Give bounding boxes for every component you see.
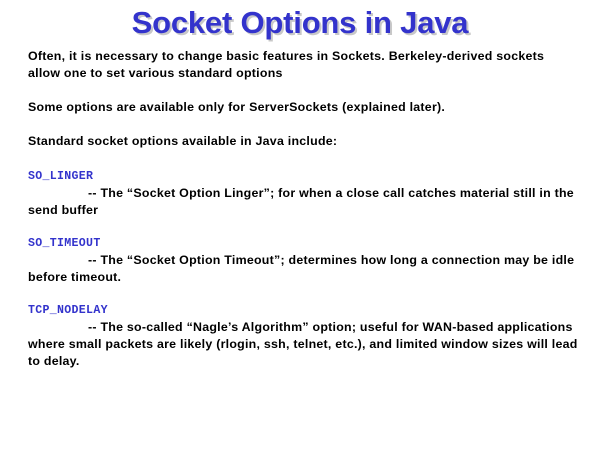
option-name-so-timeout: SO_TIMEOUT (28, 236, 580, 251)
option-description-text: -- The “Socket Option Linger”; for when … (28, 186, 574, 217)
option-entry-so-timeout: SO_TIMEOUT -- The “Socket Option Timeout… (28, 236, 580, 286)
option-description-so-timeout: -- The “Socket Option Timeout”; determin… (28, 252, 580, 286)
intro-paragraph-1: Often, it is necessary to change basic f… (28, 48, 580, 82)
option-description-text: -- The “Socket Option Timeout”; determin… (28, 253, 574, 284)
presentation-slide: Socket Options in Java Often, it is nece… (0, 0, 600, 450)
option-description-so-linger: -- The “Socket Option Linger”; for when … (28, 185, 580, 219)
intro-paragraph-2: Some options are available only for Serv… (28, 99, 580, 116)
option-name-tcp-nodelay: TCP_NODELAY (28, 303, 580, 318)
option-entry-tcp-nodelay: TCP_NODELAY -- The so-called “Nagle’s Al… (28, 303, 580, 370)
option-entry-so-linger: SO_LINGER -- The “Socket Option Linger”;… (28, 169, 580, 219)
slide-title: Socket Options in Java (0, 6, 600, 40)
option-description-tcp-nodelay: -- The so-called “Nagle’s Algorithm” opt… (28, 319, 580, 370)
option-description-text: -- The so-called “Nagle’s Algorithm” opt… (28, 320, 578, 368)
intro-paragraph-3: Standard socket options available in Jav… (28, 133, 580, 150)
option-name-so-linger: SO_LINGER (28, 169, 580, 184)
slide-body: Often, it is necessary to change basic f… (28, 48, 580, 370)
